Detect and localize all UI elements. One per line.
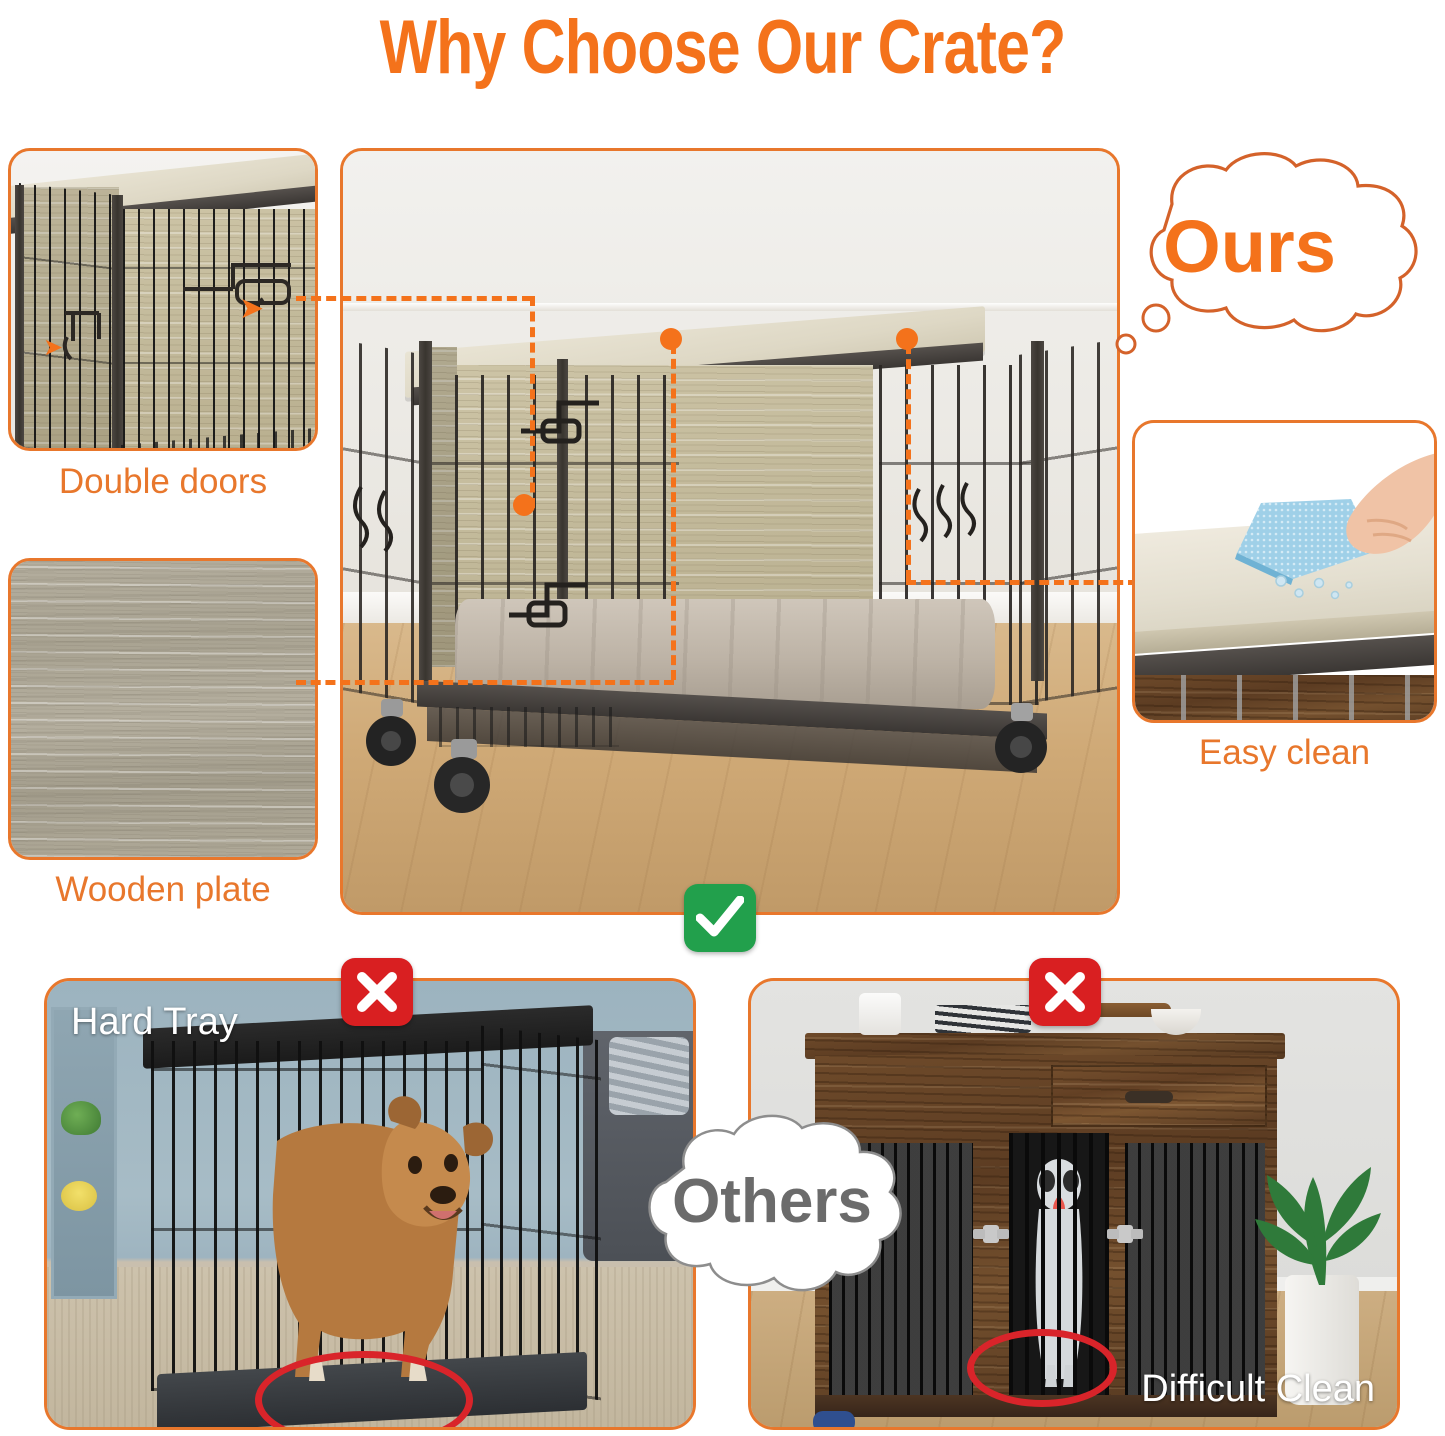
comparison-panel-hard-tray: Hard Tray — [44, 978, 696, 1430]
hero-panel-ours — [340, 148, 1120, 915]
easyclean-lower-bars — [1132, 675, 1437, 723]
arrow-left-icon-side: ➤ — [43, 336, 63, 360]
feature-panel-easy-clean — [1132, 420, 1437, 723]
drawer-handle-icon — [1125, 1091, 1173, 1103]
vase-icon — [859, 993, 901, 1035]
feature-panel-double-doors: ➤ ➤ — [8, 148, 318, 451]
callout-dot-door — [513, 494, 535, 516]
arrow-left-icon-front: ➤ — [239, 294, 264, 324]
callout-line-double-doors — [296, 296, 532, 301]
callout-line-vertical-center — [671, 344, 676, 680]
caster-wheel-front-right — [991, 703, 1055, 779]
hardtray-throw — [609, 1037, 689, 1115]
callout-line-vertical-right — [906, 344, 911, 580]
callout-line-vertical-left — [530, 296, 535, 508]
caster-wheel-rear-left — [361, 699, 425, 773]
bubble-others: Others — [636, 1114, 908, 1314]
difficult-door-right-mesh — [1125, 1143, 1265, 1397]
latch-front-hero-icon — [515, 391, 605, 451]
callout-line-wooden-plate — [296, 680, 674, 685]
door-latch-right-icon — [1107, 1217, 1143, 1251]
cross-badge-hard-tray — [341, 958, 413, 1026]
cross-badge-difficult-clean — [1029, 958, 1101, 1026]
latch-side-icon — [59, 299, 119, 369]
caption-double-doors: Double doors — [8, 462, 318, 502]
crate-post-left — [15, 185, 24, 451]
bubble-ours: Ours — [1110, 152, 1445, 362]
latch-lower-hero-icon — [503, 569, 593, 639]
hardtray-shelf — [51, 1007, 117, 1299]
callout-line-easy-clean — [906, 580, 1138, 585]
page-title: Why Choose Our Crate? — [145, 4, 1301, 91]
caster-wheel-front-left — [429, 739, 499, 819]
crate-door-front-mesh — [123, 209, 318, 451]
feature-panel-wooden-plate — [8, 558, 318, 860]
latch-hooks-right-icon — [909, 481, 999, 561]
cross-icon — [1043, 970, 1087, 1014]
callout-dot-top-board — [660, 328, 682, 350]
bubble-ours-label: Ours — [1082, 204, 1417, 289]
check-badge — [684, 884, 756, 952]
bubble-others-label: Others — [636, 1166, 908, 1237]
folded-towels — [935, 1005, 1031, 1033]
door-latch-left-icon — [973, 1217, 1009, 1251]
hero-post-right — [1031, 341, 1044, 681]
infographic-root: Why Choose Our Crate? ➤ ➤ Double door — [0, 0, 1445, 1436]
latch-hooks-left-icon — [343, 481, 413, 581]
hardtray-shelf-flower — [61, 1181, 97, 1211]
plant-leaves-icon — [1247, 1127, 1387, 1287]
difficult-clean-label: Difficult Clean — [1141, 1368, 1375, 1411]
hero-post-left — [419, 341, 432, 681]
caption-easy-clean: Easy clean — [1132, 733, 1437, 773]
caption-wooden-plate: Wooden plate — [8, 870, 318, 910]
wall-moulding — [343, 303, 1117, 311]
water-droplets-icon — [1271, 571, 1361, 611]
difficult-clean-highlight-ellipse — [967, 1329, 1117, 1407]
hard-tray-label: Hard Tray — [71, 1001, 238, 1044]
check-icon — [696, 896, 744, 940]
hardtray-shelf-plant — [61, 1101, 101, 1135]
wood-grain-swatch — [11, 561, 315, 857]
caster-blue-icon — [813, 1411, 855, 1430]
hand-icon — [1311, 449, 1437, 579]
cross-icon — [355, 970, 399, 1014]
